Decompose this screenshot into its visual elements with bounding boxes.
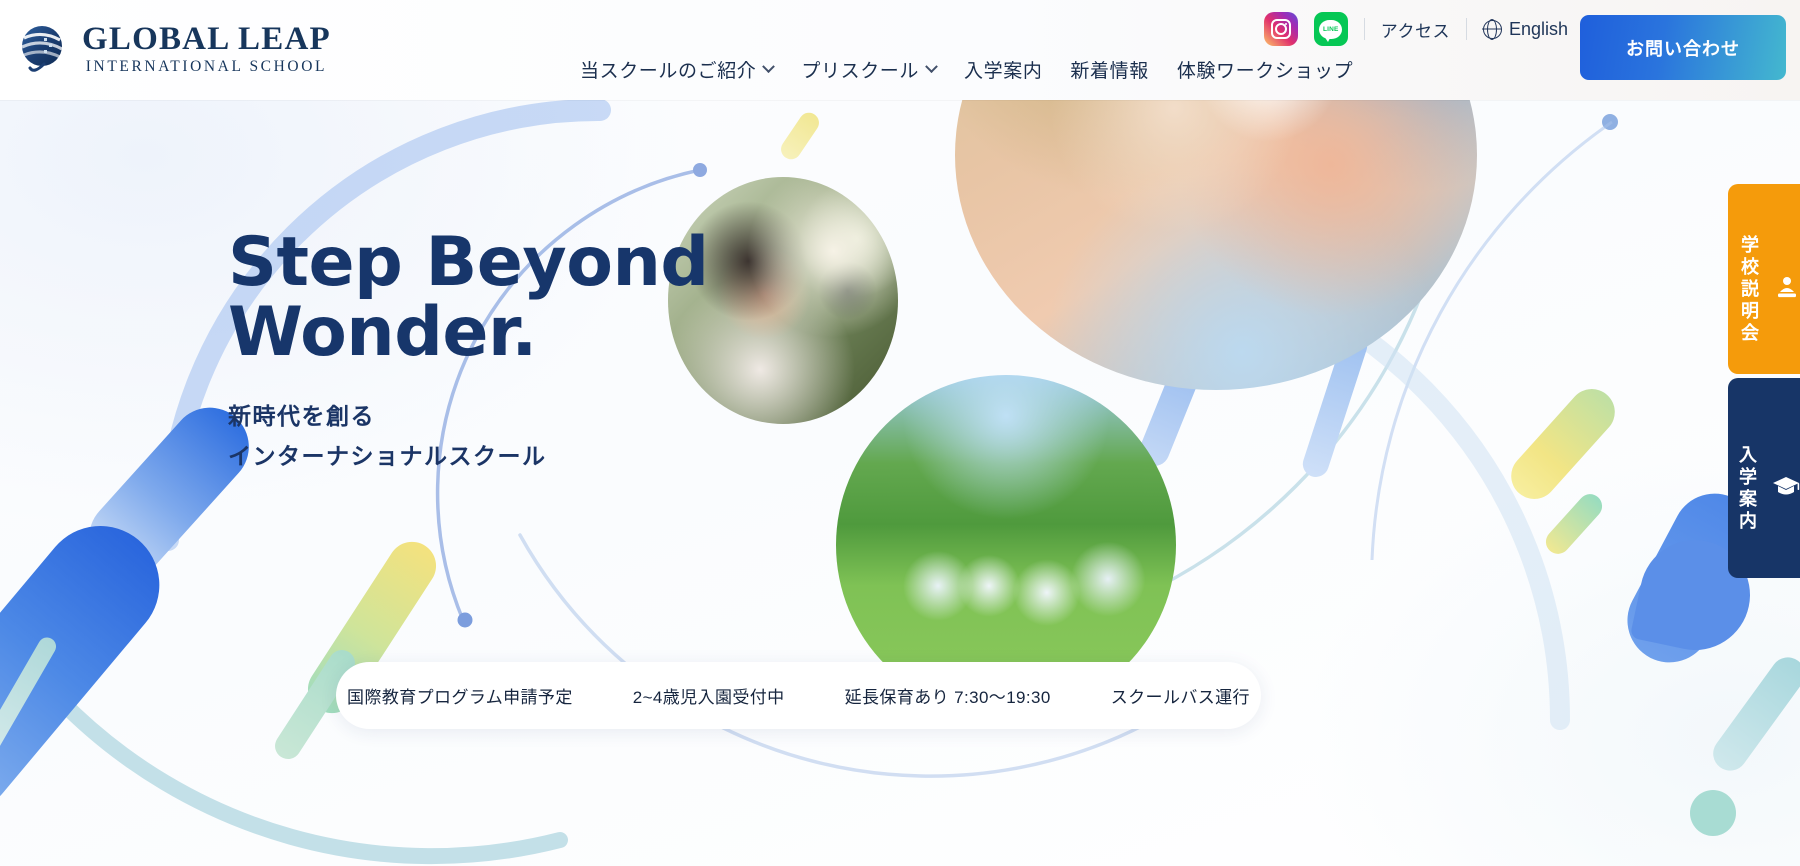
utility-nav: LINE アクセス English [1264,8,1568,50]
info-item-extended-care: 延長保育あり 7:30〜19:30 [815,683,1081,708]
info-bar: 国際教育プログラム申請予定 2~4歳児入園受付中 延長保育あり 7:30〜19:… [336,662,1261,729]
side-tab-admissions-label: 入学案内 [1734,445,1760,533]
chevron-down-icon [763,60,776,73]
hero-subtitle-line1: 新時代を創る [228,396,709,436]
access-link[interactable]: アクセス [1381,17,1450,42]
deco-bar-blue-large [0,502,183,838]
utility-divider-1 [1364,18,1365,40]
instagram-glyph [1271,19,1291,39]
nav-label-admissions: 入学案内 [964,56,1042,83]
site-logo[interactable]: GLOBAL LEAP INTERNATIONAL SCHOOL [14,20,331,78]
deco-dot-teal-bottom [1690,790,1736,836]
chevron-down-icon [925,60,938,73]
deco-bar-green-right-small [1541,489,1607,559]
site-header: GLOBAL LEAP INTERNATIONAL SCHOOL LINE アク… [0,0,1800,100]
nav-item-admissions[interactable]: 入学案内 [964,56,1042,83]
hero-subtitle-line2: インターナショナルスクール [228,436,709,476]
globe-logo-icon [14,20,72,78]
nav-label-news: 新着情報 [1070,56,1148,83]
globe-icon [1483,20,1502,39]
graduation-cap-icon [1772,475,1800,504]
deco-bar-yellow-top [777,109,823,163]
side-tab-admissions[interactable]: 入学案内 [1728,378,1800,578]
logo-subtitle: INTERNATIONAL SCHOOL [82,59,331,75]
main-nav: 当スクールのご紹介 プリスクール 入学案内 新着情報 体験ワークショップ [580,56,1353,83]
presenter-icon [1774,275,1800,306]
nav-item-about[interactable]: 当スクールのご紹介 [580,56,773,83]
nav-item-preschool[interactable]: プリスクール [801,56,936,83]
instagram-icon[interactable] [1264,12,1298,46]
utility-divider-2 [1466,18,1467,40]
deco-bar-teal-far-right [1706,651,1800,778]
nav-item-news[interactable]: 新着情報 [1070,56,1148,83]
side-tab-info-session-label: 学校説明会 [1736,235,1762,345]
side-tab-info-session[interactable]: 学校説明会 [1728,184,1800,374]
hero-headline-line1: Step Beyond [228,228,709,298]
nav-label-workshop: 体験ワークショップ [1177,56,1353,83]
deco-bar-yellow-right [1502,380,1625,509]
nav-item-workshop[interactable]: 体験ワークショップ [1177,56,1353,83]
hero-copy: Step Beyond Wonder. 新時代を創る インターナショナルスクール [228,228,709,477]
language-label: English [1509,19,1568,40]
contact-button[interactable]: お問い合わせ [1580,15,1786,80]
language-selector[interactable]: English [1483,19,1568,40]
nav-label-preschool: プリスクール [801,56,919,83]
info-item-program: 国際教育プログラム申請予定 [317,683,603,708]
nav-label-about: 当スクールのご紹介 [580,56,756,83]
logo-title: GLOBAL LEAP [82,23,331,56]
deco-bar-teal-left [0,634,59,756]
hero-headline-line2: Wonder. [228,298,709,368]
line-glyph: LINE [1319,20,1342,39]
info-item-school-bus: スクールバス運行 [1081,683,1280,708]
line-icon[interactable]: LINE [1314,12,1348,46]
info-item-enrollment: 2~4歳児入園受付中 [603,683,815,708]
